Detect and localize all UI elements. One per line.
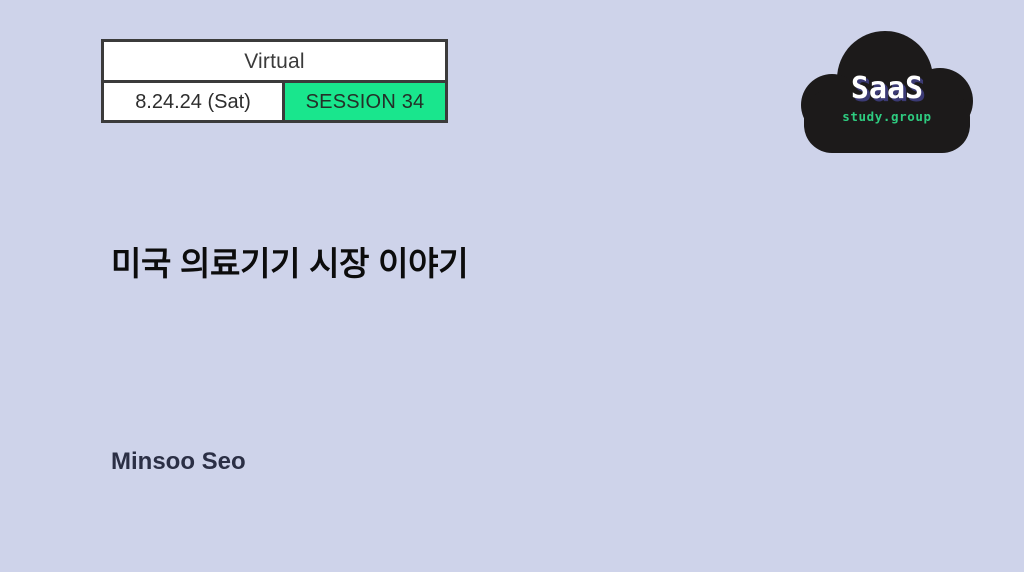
slide-title: 미국 의료기기 시장 이야기 (111, 243, 468, 284)
badge-format-row: Virtual (104, 42, 445, 83)
saas-study-group-logo: SaaS study.group (799, 27, 975, 157)
badge-date-cell: 8.24.24 (Sat) (104, 83, 285, 120)
cloud-icon (799, 27, 975, 157)
badge-detail-row: 8.24.24 (Sat) SESSION 34 (104, 83, 445, 120)
badge-session-number-label: SESSION 34 (306, 92, 425, 112)
slide-author: Minsoo Seo (111, 447, 246, 477)
badge-format-label: Virtual (244, 51, 305, 72)
badge-session-cell: SESSION 34 (285, 83, 445, 120)
presentation-slide: Virtual 8.24.24 (Sat) SESSION 34 SaaS st… (0, 0, 1024, 572)
badge-date-label: 8.24.24 (Sat) (135, 92, 251, 112)
session-badge: Virtual 8.24.24 (Sat) SESSION 34 (101, 39, 448, 123)
